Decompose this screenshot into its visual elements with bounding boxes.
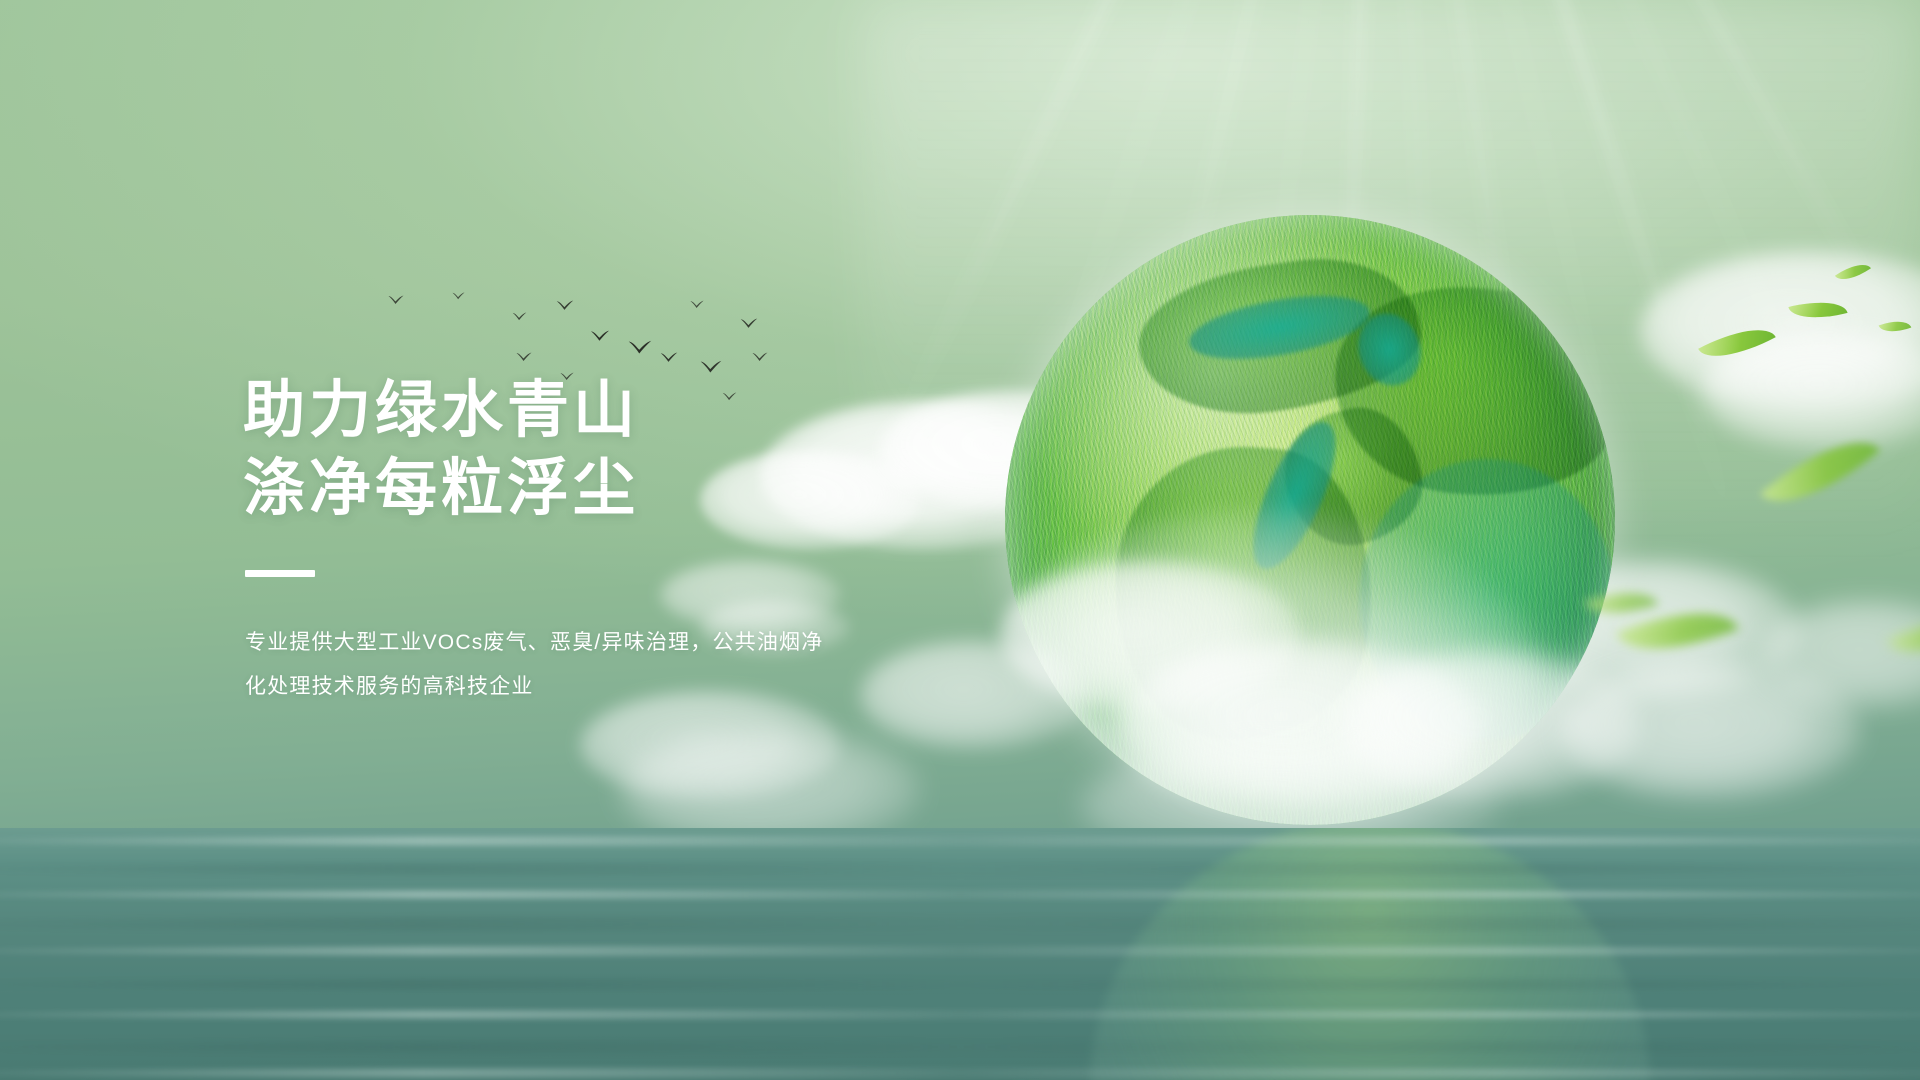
headline-line-1: 助力绿水青山: [243, 372, 1003, 450]
bird-4: [556, 300, 574, 311]
water-ripple-4: [0, 916, 1920, 932]
water-ripple-9: [0, 1068, 1920, 1078]
bird-1: [388, 295, 404, 305]
bird-12: [740, 318, 758, 329]
bird-9: [516, 352, 532, 362]
water-ripple-1: [0, 836, 1920, 846]
eco-hero-banner: 助力绿水青山 涤净每粒浮尘 专业提供大型工业VOCs废气、恶臭/异味治理，公共油…: [0, 0, 1920, 1080]
hero-copy: 助力绿水青山 涤净每粒浮尘 专业提供大型工业VOCs废气、恶臭/异味治理，公共油…: [243, 372, 1003, 709]
water-ripple-2: [0, 862, 1920, 876]
headline-divider: [245, 570, 315, 577]
bird-13: [752, 352, 768, 362]
bird-8: [690, 300, 704, 309]
water-ripple-7: [0, 1010, 1920, 1019]
bird-2: [452, 292, 465, 300]
bird-7: [660, 352, 678, 363]
subtitle-line-2: 化处理技术服务的高科技企业: [245, 675, 534, 698]
water-ripple-5: [0, 946, 1920, 956]
subtitle: 专业提供大型工业VOCs废气、恶臭/异味治理，公共油烟净 化处理技术服务的高科技…: [245, 621, 905, 709]
headline-line-2: 涤净每粒浮尘: [243, 450, 1003, 528]
bird-6: [628, 340, 652, 355]
water-ripple-3: [0, 890, 1920, 899]
water-ripple-6: [0, 978, 1920, 991]
bird-5: [590, 330, 610, 342]
water-ripple-8: [0, 1040, 1920, 1054]
bird-3: [512, 312, 527, 321]
subtitle-line-1: 专业提供大型工业VOCs废气、恶臭/异味治理，公共油烟净: [245, 631, 823, 654]
water-surface: [0, 828, 1920, 1080]
